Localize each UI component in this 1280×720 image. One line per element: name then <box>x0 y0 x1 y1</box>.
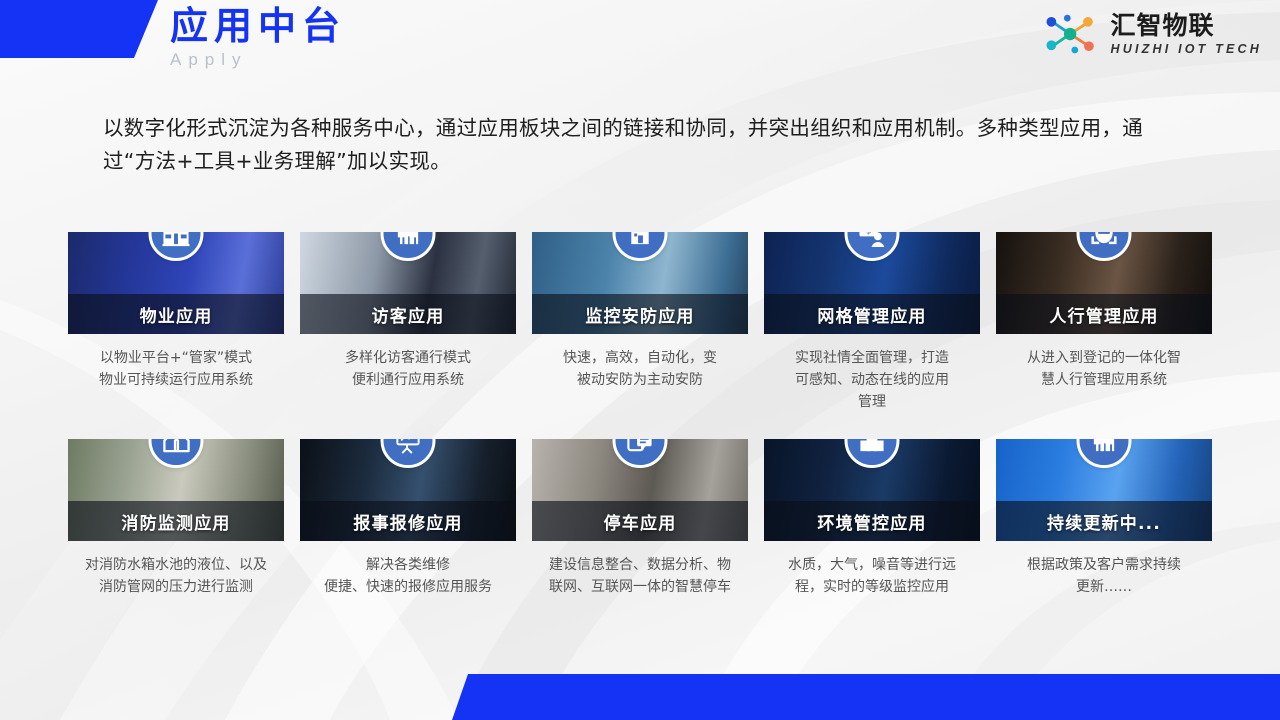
footer-blue-parallelogram <box>0 674 1280 720</box>
card-title-bar: 物业应用 <box>68 294 284 334</box>
card-thumbnail: 持续更新中... <box>996 439 1212 541</box>
card-title: 访客应用 <box>372 302 445 327</box>
application-card-grid: 物业应用以物业平台+“管家”模式 物业可持续运行应用系统访客应用多样化访客通行模… <box>0 232 1280 598</box>
card-description: 水质，大气，噪音等进行远 程，实时的等级监控应用 <box>761 554 983 598</box>
company-logo: 汇智物联 HUIZHI IOT TECH <box>1042 12 1262 56</box>
card-title: 报事报修应用 <box>353 509 462 534</box>
card-description: 多样化访客通行模式 便利通行应用系统 <box>297 347 519 391</box>
card-title-bar: 访客应用 <box>300 294 516 334</box>
application-card[interactable]: 停车应用建设信息整合、数据分析、物 联网、互联网一体的智慧停车 <box>525 439 756 598</box>
card-description: 解决各类维修 便捷、快速的报修应用服务 <box>297 554 519 598</box>
header-blue-parallelogram <box>0 0 170 58</box>
card-description: 以物业平台+“管家”模式 物业可持续运行应用系统 <box>65 347 287 391</box>
application-card[interactable]: 监控安防应用快速，高效，自动化，变 被动安防为主动安防 <box>525 232 756 413</box>
card-title-bar: 报事报修应用 <box>300 501 516 541</box>
intro-paragraph: 以数字化形式沉淀为各种服务中心，通过应用板块之间的链接和协同，并突出组织和应用机… <box>103 112 1168 178</box>
application-card[interactable]: 网格管理应用$实现社情全面管理，打造 可感知、动态在线的应用 管理 <box>757 232 988 413</box>
house-building-icon <box>162 232 191 248</box>
card-title: 停车应用 <box>604 509 677 534</box>
application-card[interactable]: 物业应用以物业平台+“管家”模式 物业可持续运行应用系统 <box>61 232 292 413</box>
card-description: 快速，高效，自动化，变 被动安防为主动安防 <box>529 347 751 391</box>
application-card[interactable]: 环境管控应用水质，大气，噪音等进行远 程，实时的等级监控应用 <box>757 439 988 598</box>
card-row-1: 物业应用以物业平台+“管家”模式 物业可持续运行应用系统访客应用多样化访客通行模… <box>0 232 1280 413</box>
page-title: 应用中台 <box>170 4 346 48</box>
svg-text:$: $ <box>866 232 872 237</box>
card-thumbnail: 消防监测应用 <box>68 439 284 541</box>
card-title-bar: 持续更新中... <box>996 501 1212 541</box>
logo-name-cn: 汇智物联 <box>1111 13 1262 38</box>
card-row-2: 消防监测应用对消防水箱水池的液位、以及 消防管网的压力进行监测报事报修应用解决各… <box>0 439 1280 598</box>
card-title: 物业应用 <box>140 302 213 327</box>
water-tank-icon <box>162 439 191 455</box>
application-card[interactable]: 人行管理应用从进入到登记的一体化智 慧人行管理应用系统 <box>989 232 1220 413</box>
card-title-bar: 停车应用 <box>532 501 748 541</box>
card-description: 对消防水箱水池的液位、以及 消防管网的压力进行监测 <box>65 554 287 598</box>
card-description: 从进入到登记的一体化智 慧人行管理应用系统 <box>993 347 1215 391</box>
payment-person-icon: $ <box>858 232 887 248</box>
card-title: 持续更新中... <box>1047 509 1161 534</box>
card-thumbnail: 访客应用 <box>300 232 516 334</box>
logo-name-en: HUIZHI IOT TECH <box>1111 43 1262 56</box>
card-thumbnail: 网格管理应用$ <box>764 232 980 334</box>
card-thumbnail: 环境管控应用 <box>764 439 980 541</box>
card-title: 消防监测应用 <box>121 509 230 534</box>
card-thumbnail: 监控安防应用 <box>532 232 748 334</box>
chart-board-icon <box>394 439 423 455</box>
card-thumbnail: 报事报修应用 <box>300 439 516 541</box>
molecule-network-icon <box>1042 12 1102 56</box>
card-thumbnail: 物业应用 <box>68 232 284 334</box>
card-title: 人行管理应用 <box>1049 302 1158 327</box>
application-card[interactable]: 报事报修应用解决各类维修 便捷、快速的报修应用服务 <box>293 439 524 598</box>
card-title-bar: 网格管理应用 <box>764 294 980 334</box>
mobile-message-icon <box>626 439 655 455</box>
three-people-icon <box>1090 439 1119 455</box>
group-people-icon <box>858 439 887 455</box>
home-shield-icon <box>626 232 655 248</box>
card-title: 环境管控应用 <box>817 509 926 534</box>
card-title-bar: 人行管理应用 <box>996 294 1212 334</box>
card-thumbnail: 人行管理应用 <box>996 232 1212 334</box>
face-recognition-icon <box>1090 232 1119 248</box>
application-card[interactable]: 访客应用多样化访客通行模式 便利通行应用系统 <box>293 232 524 413</box>
card-description: 实现社情全面管理，打造 可感知、动态在线的应用 管理 <box>761 347 983 413</box>
card-description: 根据政策及客户需求持续 更新…… <box>993 554 1215 598</box>
card-title-bar: 消防监测应用 <box>68 501 284 541</box>
card-title: 网格管理应用 <box>817 302 926 327</box>
page-header: 应用中台 Apply 汇智物联 HUIZHI IOT TECH <box>0 0 1280 92</box>
card-description: 建设信息整合、数据分析、物 联网、互联网一体的智慧停车 <box>529 554 751 598</box>
application-card[interactable]: 持续更新中...根据政策及客户需求持续 更新…… <box>989 439 1220 598</box>
page-title-block: 应用中台 Apply <box>170 4 346 70</box>
page-subtitle: Apply <box>170 50 346 70</box>
card-thumbnail: 停车应用 <box>532 439 748 541</box>
three-people-icon <box>394 232 423 248</box>
card-title-bar: 环境管控应用 <box>764 501 980 541</box>
card-title: 监控安防应用 <box>585 302 694 327</box>
application-card[interactable]: 消防监测应用对消防水箱水池的液位、以及 消防管网的压力进行监测 <box>61 439 292 598</box>
card-title-bar: 监控安防应用 <box>532 294 748 334</box>
